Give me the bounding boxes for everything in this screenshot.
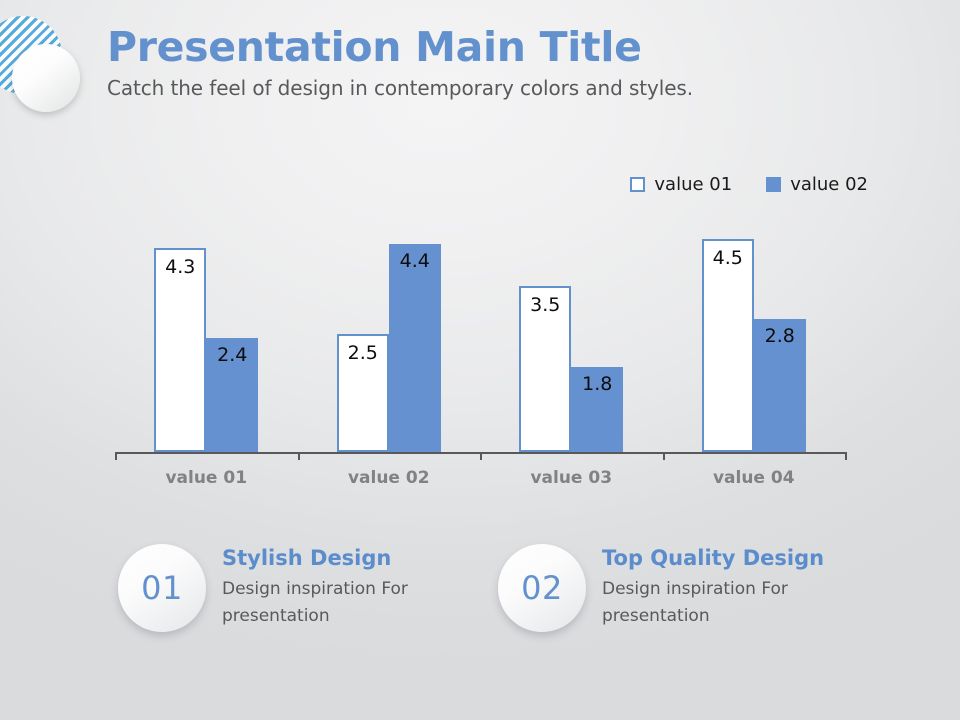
x-axis-tick-3 [663, 452, 665, 460]
x-axis-label-2: value 02 [298, 468, 481, 488]
chart-legend: value 01 value 02 [630, 174, 868, 195]
bar-chart: value 01 value 02 4.32.42.54.43.51.84.52… [0, 160, 960, 510]
presentation-slide: Presentation Main Title Catch the feel o… [0, 0, 960, 720]
bar-4-series-1[interactable]: 4.5 [702, 239, 754, 452]
feature-number-circle-02: 02 [498, 544, 586, 632]
x-axis-label-4: value 04 [663, 468, 846, 488]
x-axis-label-1: value 01 [115, 468, 298, 488]
feature-heading-02: Top Quality Design [602, 544, 824, 572]
feature-list: 01 Stylish Design Design inspiration For… [0, 538, 960, 658]
bar-group-2: 2.54.4 [337, 220, 441, 452]
feature-number-label-02: 02 [521, 569, 563, 607]
bar-value-label-1-2: 2.4 [206, 344, 258, 366]
feature-item-01[interactable]: 01 Stylish Design Design inspiration For… [118, 538, 437, 632]
bar-value-label-1-1: 4.3 [156, 256, 204, 278]
chart-x-axis-labels: value 01value 02value 03value 04 [115, 468, 846, 498]
gloss-circle-icon [12, 44, 80, 112]
bar-1-series-1[interactable]: 4.3 [154, 248, 206, 452]
x-axis-tick-4 [845, 452, 847, 460]
bar-4-series-2[interactable]: 2.8 [754, 319, 806, 452]
feature-body-02: Top Quality Design Design inspiration Fo… [602, 538, 824, 630]
feature-number-circle-01: 01 [118, 544, 206, 632]
x-axis-tick-2 [480, 452, 482, 460]
feature-heading-01: Stylish Design [222, 544, 437, 572]
x-axis-tick-0 [115, 452, 117, 460]
bar-value-label-4-1: 4.5 [704, 247, 752, 269]
legend-swatch-icon-value-02 [766, 177, 781, 192]
legend-label-value-01: value 01 [654, 174, 732, 195]
feature-number-label-01: 01 [141, 569, 183, 607]
x-axis-label-3: value 03 [480, 468, 663, 488]
legend-item-value-02[interactable]: value 02 [766, 174, 868, 195]
feature-item-02[interactable]: 02 Top Quality Design Design inspiration… [498, 538, 824, 632]
bar-value-label-4-2: 2.8 [754, 325, 806, 347]
bar-3-series-2[interactable]: 1.8 [571, 367, 623, 452]
legend-item-value-01[interactable]: value 01 [630, 174, 732, 195]
bar-3-series-1[interactable]: 3.5 [519, 286, 571, 452]
bar-2-series-2[interactable]: 4.4 [389, 244, 441, 452]
header-decoration [0, 16, 96, 112]
chart-plot-area: 4.32.42.54.43.51.84.52.8 [115, 220, 845, 452]
bar-2-series-1[interactable]: 2.5 [337, 334, 389, 452]
bar-value-label-3-2: 1.8 [571, 373, 623, 395]
bar-group-3: 3.51.8 [519, 220, 623, 452]
bar-value-label-2-1: 2.5 [339, 342, 387, 364]
legend-label-value-02: value 02 [790, 174, 868, 195]
bar-group-1: 4.32.4 [154, 220, 258, 452]
page-subtitle: Catch the feel of design in contemporary… [107, 75, 907, 101]
feature-description-01: Design inspiration For presentation [222, 576, 437, 630]
bar-value-label-2-2: 4.4 [389, 250, 441, 272]
x-axis-tick-1 [298, 452, 300, 460]
header-text-block: Presentation Main Title Catch the feel o… [107, 22, 907, 101]
bar-value-label-3-1: 3.5 [521, 294, 569, 316]
page-title: Presentation Main Title [107, 22, 907, 72]
bar-1-series-2[interactable]: 2.4 [206, 338, 258, 452]
feature-body-01: Stylish Design Design inspiration For pr… [222, 538, 437, 630]
legend-swatch-icon-value-01 [630, 177, 645, 192]
feature-description-02: Design inspiration For presentation [602, 576, 817, 630]
bar-group-4: 4.52.8 [702, 220, 806, 452]
